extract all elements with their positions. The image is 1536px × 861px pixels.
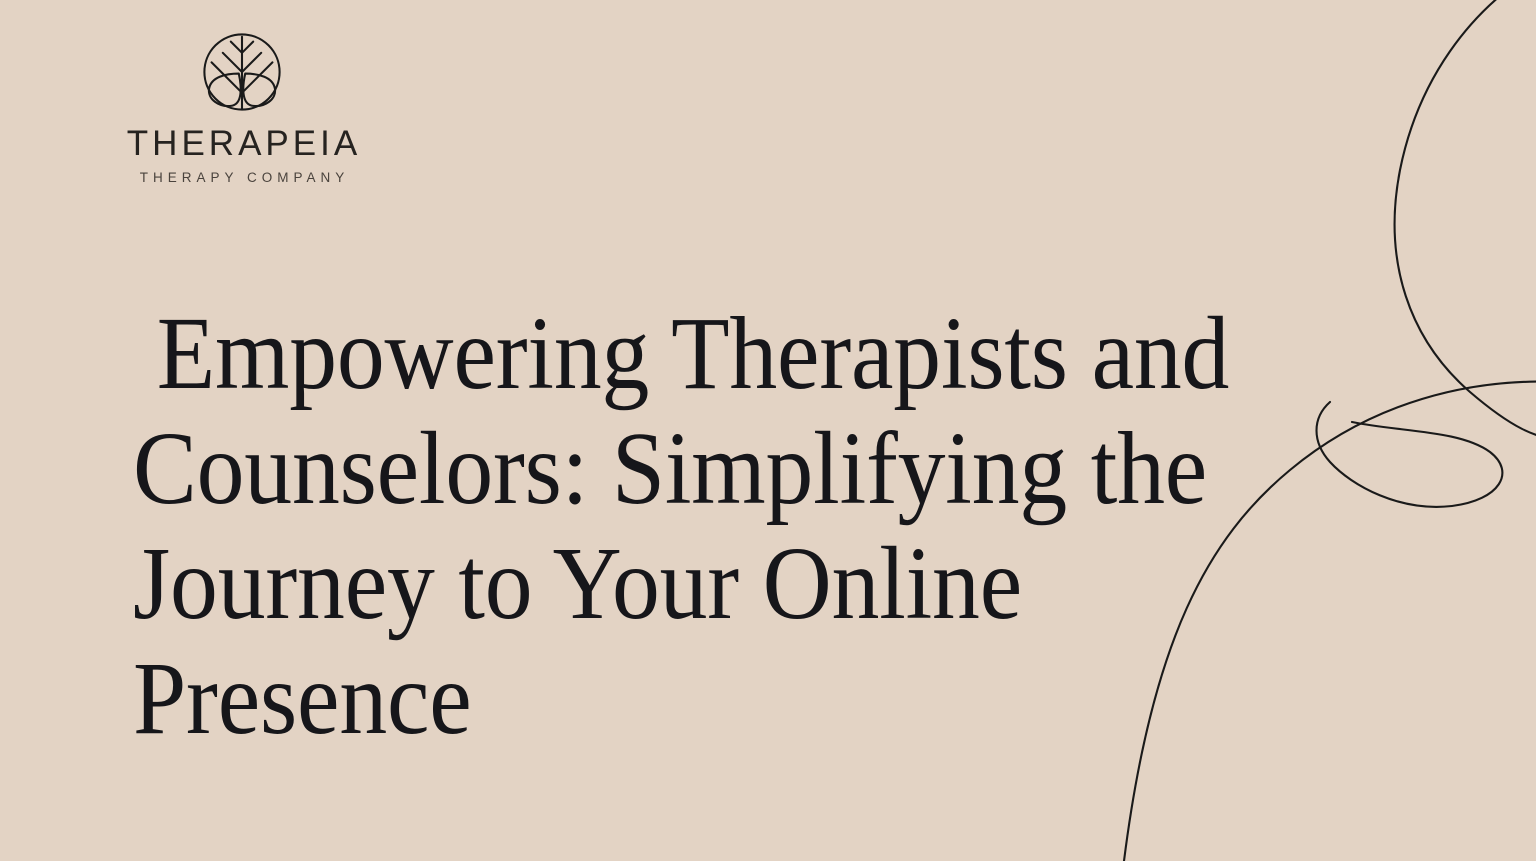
brand-tagline: THERAPY COMPANY (120, 171, 364, 185)
headline-line-1: Empowering Therapists and (133, 296, 1163, 411)
headline-line-2: Counselors: Simplifying the (133, 411, 1163, 526)
headline-line-4: Presence (133, 641, 1163, 756)
brand-logo-lockup: THERAPEIA THERAPY COMPANY (120, 32, 364, 185)
brand-wordmark: THERAPEIA (120, 126, 364, 161)
tree-in-circle-icon (202, 32, 282, 112)
slide-canvas: THERAPEIA THERAPY COMPANY Empowering The… (0, 0, 1536, 861)
headline-line-3: Journey to Your Online (133, 526, 1163, 641)
slide-headline: Empowering Therapists and Counselors: Si… (133, 296, 1253, 756)
